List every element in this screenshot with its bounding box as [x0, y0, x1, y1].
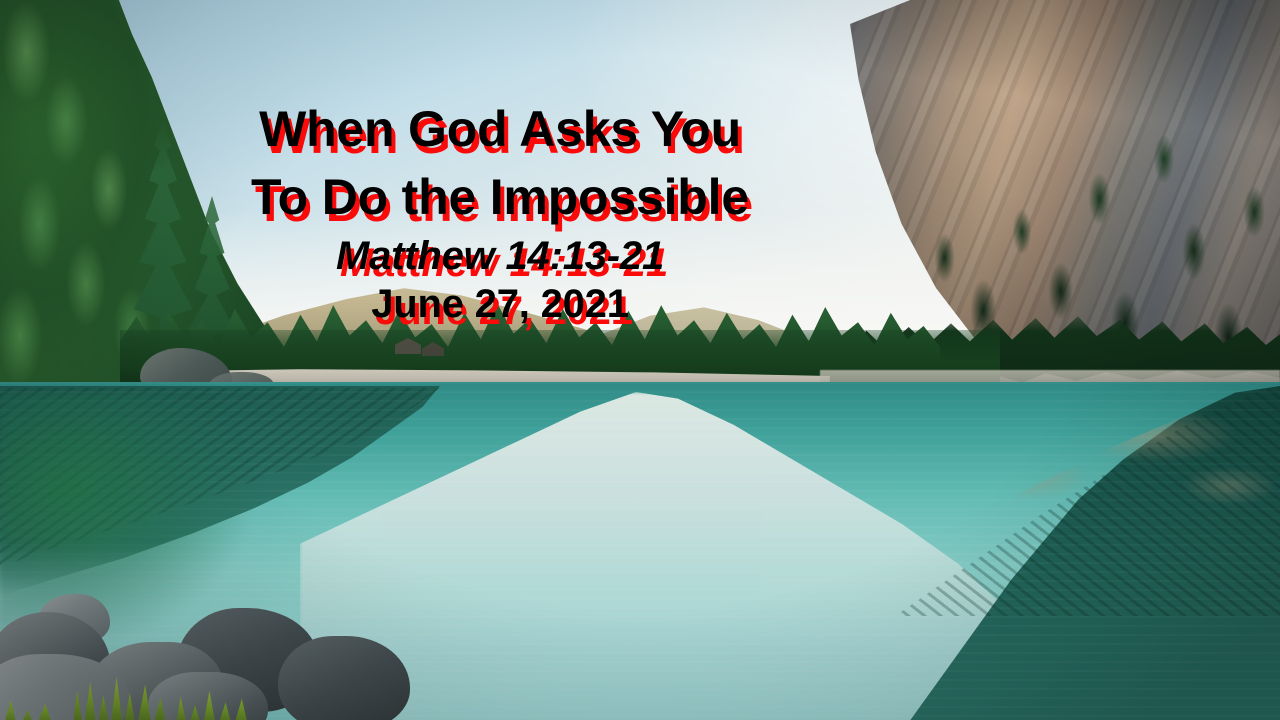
slide-title-line-1: When God Asks You — [0, 104, 1000, 154]
foreground-rock — [278, 636, 410, 720]
slide-text-block: When God Asks You To Do the Impossible M… — [0, 104, 1000, 324]
slide-title-line-2: To Do the Impossible — [0, 172, 1000, 222]
scripture-reference: Matthew 14:13-21 — [0, 236, 1000, 276]
slide-date: June 27, 2021 — [0, 284, 1000, 324]
foreground-rocks — [0, 550, 410, 720]
presentation-slide: When God Asks You To Do the Impossible M… — [0, 0, 1280, 720]
